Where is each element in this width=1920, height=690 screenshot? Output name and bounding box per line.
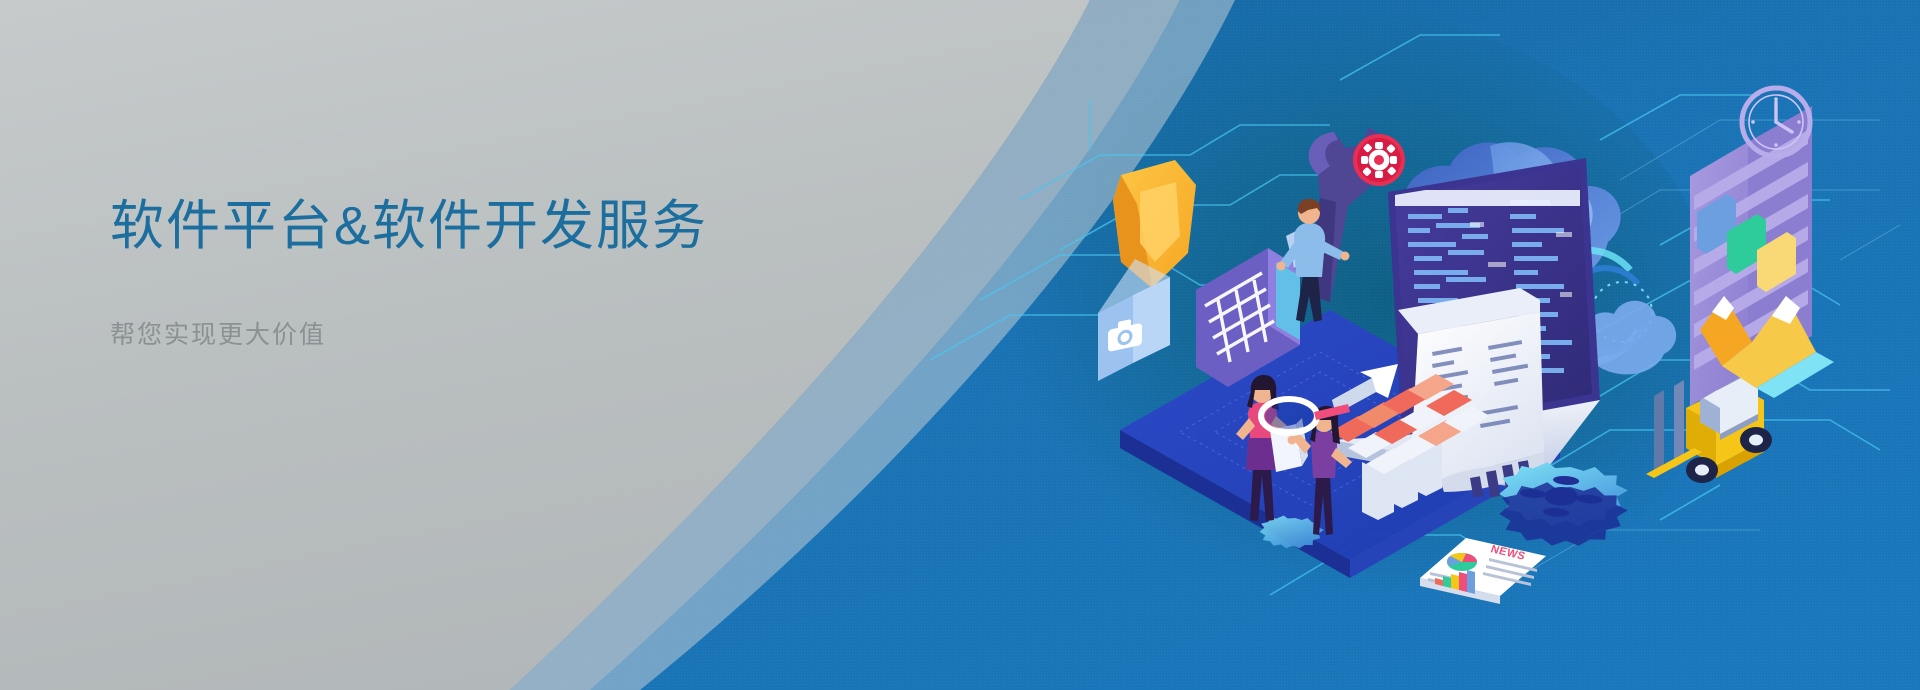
hero-banner: 软件平台&软件开发服务 帮您实现更大价值 xyxy=(0,0,1920,690)
page-subtitle: 帮您实现更大价值 xyxy=(110,320,830,350)
page-title: 软件平台&软件开发服务 xyxy=(110,196,830,256)
hero-text-block: 软件平台&软件开发服务 帮您实现更大价值 xyxy=(110,196,830,350)
